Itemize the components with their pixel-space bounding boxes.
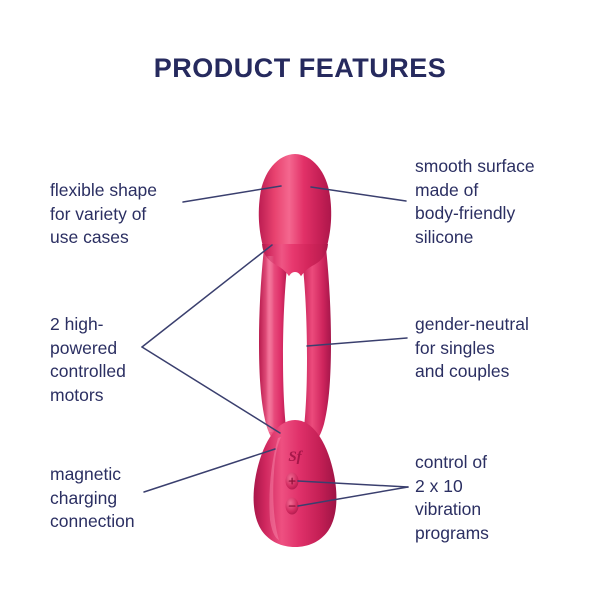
leader-motors-lower [142, 347, 280, 433]
leader-magnetic-charging [144, 449, 275, 492]
leader-programs-lower [298, 487, 408, 506]
leader-lines [0, 0, 600, 600]
leader-programs-upper [298, 481, 408, 487]
leader-gender-neutral [307, 338, 407, 346]
leader-flexible-shape [183, 186, 281, 202]
leader-motors-upper [142, 245, 272, 347]
leader-smooth-surface [311, 187, 406, 201]
product-features-infographic: PRODUCT FEATURES [0, 0, 600, 600]
